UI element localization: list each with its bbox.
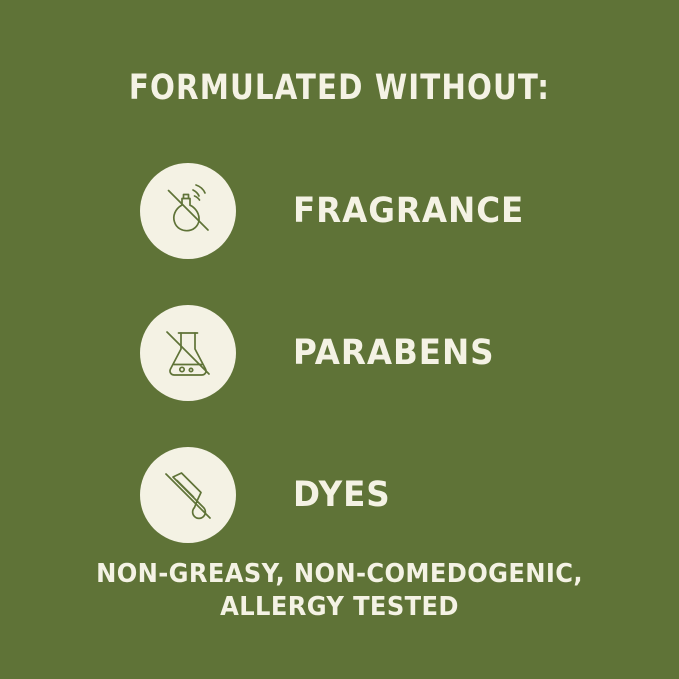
- no-parabens-flask-icon: [153, 318, 223, 388]
- footer-line-2: ALLERGY TESTED: [24, 591, 655, 624]
- icon-badge: [140, 305, 236, 401]
- claims-list: FRAGRANCE PARABENS: [0, 140, 679, 566]
- no-fragrance-icon: [153, 176, 223, 246]
- footer-claims: NON-GREASY, NON-COMEDOGENIC, ALLERGY TES…: [24, 558, 655, 625]
- icon-badge: [140, 163, 236, 259]
- list-item-label: DYES: [293, 475, 391, 515]
- icon-badge: [140, 447, 236, 543]
- list-item: FRAGRANCE: [0, 140, 679, 282]
- list-item: PARABENS: [0, 282, 679, 424]
- no-dyes-dropper-icon: [153, 460, 223, 530]
- list-item: DYES: [0, 424, 679, 566]
- formulated-without-panel: FORMULATED WITHOUT: FRAGRANCE: [0, 0, 679, 679]
- page-title: FORMULATED WITHOUT:: [24, 68, 655, 108]
- footer-line-1: NON-GREASY, NON-COMEDOGENIC,: [24, 558, 655, 591]
- list-item-label: PARABENS: [293, 333, 494, 373]
- list-item-label: FRAGRANCE: [293, 191, 524, 231]
